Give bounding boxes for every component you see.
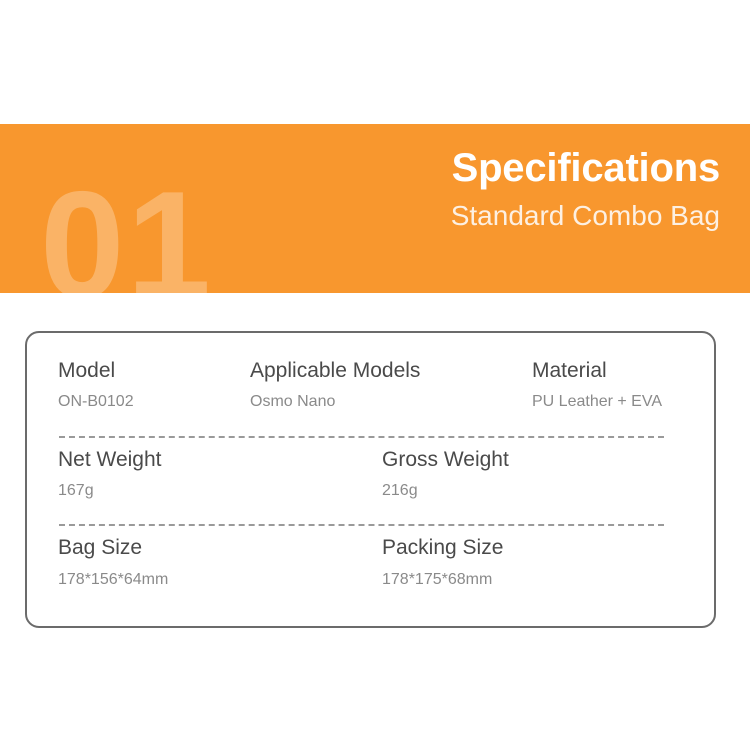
- product-spec-page: 01 Specifications Standard Combo Bag Mod…: [0, 0, 750, 750]
- page-title: Specifications: [451, 146, 720, 190]
- banner-text-group: Specifications Standard Combo Bag: [451, 146, 720, 233]
- spec-cell-applicable-models: Applicable Models Osmo Nano: [250, 357, 532, 414]
- specifications-table: Model ON-B0102 Applicable Models Osmo Na…: [58, 349, 690, 591]
- section-number-watermark: 01: [40, 169, 213, 293]
- table-row: Bag Size 178*156*64mm Packing Size 178*1…: [58, 526, 690, 591]
- spec-cell-gross-weight: Gross Weight 216g: [382, 446, 509, 503]
- spec-label: Bag Size: [58, 534, 382, 562]
- spec-value: ON-B0102: [58, 391, 250, 413]
- spec-value: 178*156*64mm: [58, 569, 382, 591]
- spec-label: Packing Size: [382, 534, 503, 562]
- spec-label: Model: [58, 357, 250, 385]
- page-subtitle: Standard Combo Bag: [451, 198, 720, 233]
- spec-cell-bag-size: Bag Size 178*156*64mm: [58, 534, 382, 591]
- section-banner: 01 Specifications Standard Combo Bag: [0, 124, 750, 293]
- spec-cell-net-weight: Net Weight 167g: [58, 446, 382, 503]
- spec-label: Net Weight: [58, 446, 382, 474]
- spec-label: Applicable Models: [250, 357, 532, 385]
- spec-value: Osmo Nano: [250, 391, 532, 413]
- specifications-card: Model ON-B0102 Applicable Models Osmo Na…: [25, 331, 716, 628]
- spec-value: 167g: [58, 480, 382, 502]
- spec-cell-packing-size: Packing Size 178*175*68mm: [382, 534, 503, 591]
- spec-value: PU Leather + EVA: [532, 391, 662, 413]
- spec-label: Material: [532, 357, 662, 385]
- spec-value: 178*175*68mm: [382, 569, 503, 591]
- spec-cell-model: Model ON-B0102: [58, 357, 250, 414]
- spec-value: 216g: [382, 480, 509, 502]
- table-row: Net Weight 167g Gross Weight 216g: [58, 438, 690, 503]
- table-row: Model ON-B0102 Applicable Models Osmo Na…: [58, 349, 690, 414]
- spec-cell-material: Material PU Leather + EVA: [532, 357, 662, 414]
- spec-label: Gross Weight: [382, 446, 509, 474]
